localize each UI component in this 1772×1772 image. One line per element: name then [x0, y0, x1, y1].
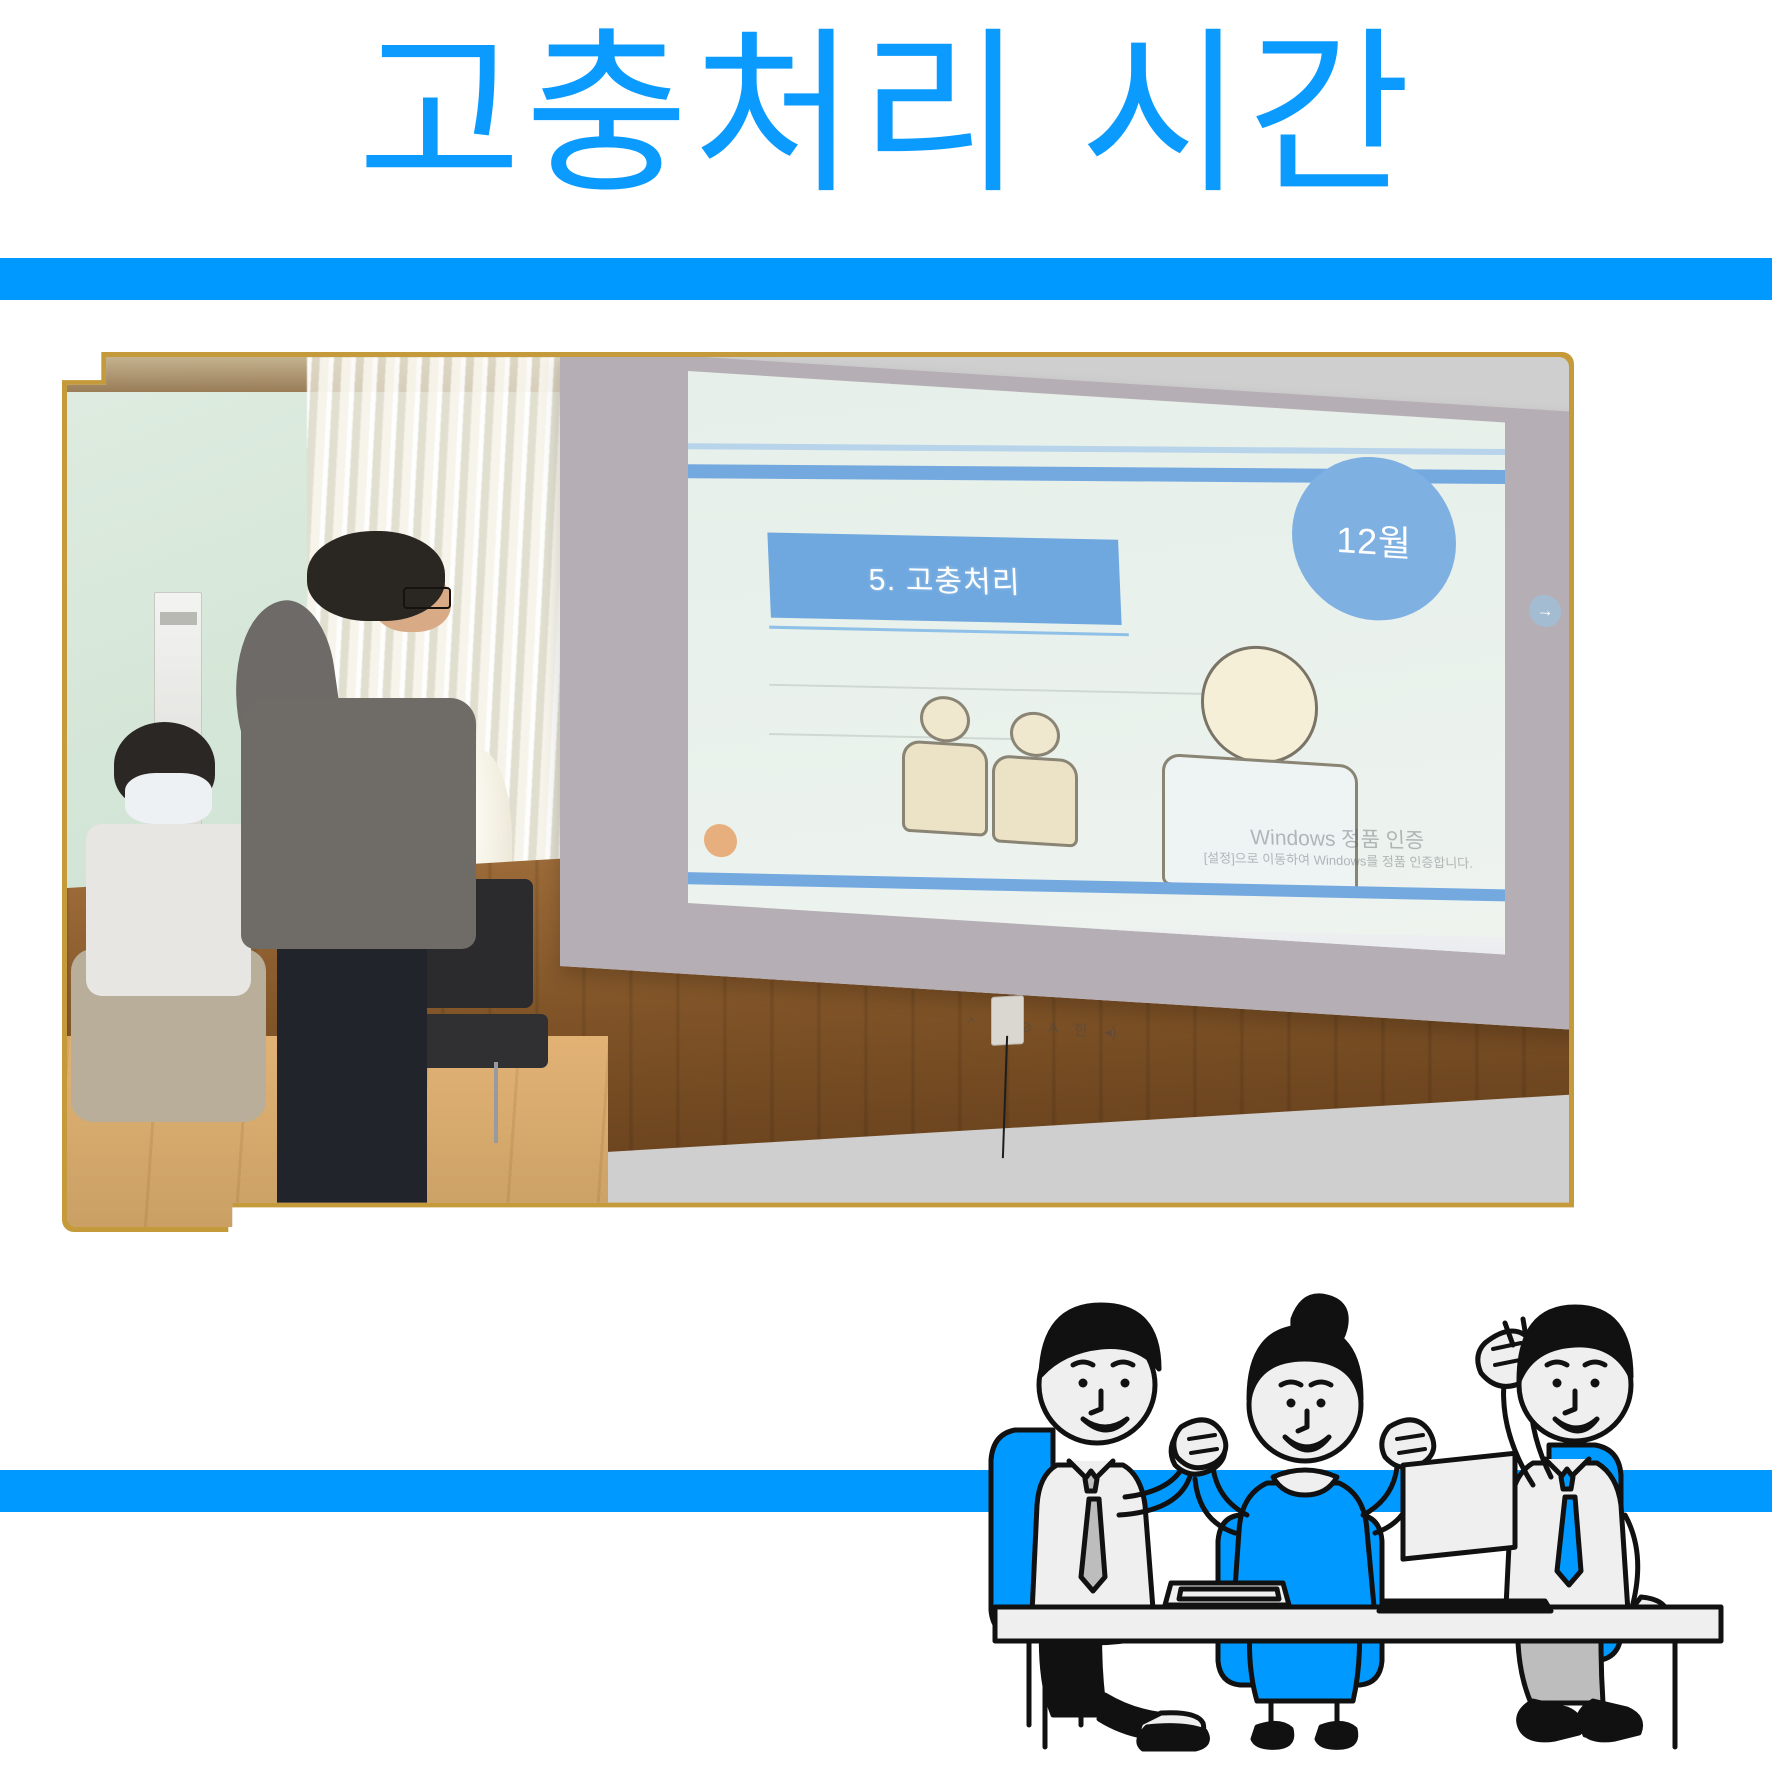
slide-corner-logo	[704, 824, 737, 859]
slide-title-underline	[769, 626, 1128, 637]
standing-presenter	[217, 531, 517, 1227]
illustration-svg	[985, 1215, 1745, 1755]
cheering-office-team-illustration	[985, 1215, 1745, 1755]
projection-screen: 5. 고충처리 12월	[560, 357, 1569, 1030]
slide-figure-head	[1200, 643, 1318, 768]
photo-image: 5. 고충처리 12월	[67, 357, 1569, 1227]
tray-ime-latin-icon[interactable]: A	[1048, 1019, 1058, 1037]
glasses	[403, 587, 451, 609]
torso	[241, 698, 475, 949]
legs	[277, 928, 427, 1227]
next-slide-button[interactable]: →	[1529, 595, 1561, 629]
page-title: 고충처리 시간	[0, 22, 1772, 209]
slide-figure-head	[1009, 711, 1059, 759]
poster-root: 고충처리 시간	[0, 0, 1772, 1772]
tray-ime-hangul-icon[interactable]: 한	[1074, 1019, 1088, 1041]
tray-wifi-icon[interactable]: ◂)	[1104, 1022, 1117, 1041]
slide-title-text: 5. 고충처리	[868, 556, 1022, 603]
meeting-room-scene: 5. 고충처리 12월	[67, 357, 1569, 1227]
slide-figure-head	[920, 694, 970, 744]
arrow-right-icon: →	[1529, 595, 1561, 629]
slide-stripe-secondary	[687, 444, 1504, 456]
keyboard	[1165, 1583, 1289, 1605]
face-mask	[125, 773, 212, 824]
windows-activation-watermark: Windows 정품 인증 [설정]으로 이동하여 Windows를 정품 인증…	[1202, 824, 1473, 872]
photo-card: 5. 고충처리 12월	[62, 352, 1574, 1232]
slide-figure-middle	[990, 710, 1080, 848]
slide-title-chip: 5. 고충처리	[767, 533, 1122, 626]
slide-figure-body	[902, 740, 988, 837]
slide-figure-body	[991, 755, 1077, 848]
person-woman-center	[1174, 1296, 1434, 1747]
tray-chevron-icon[interactable]: ^	[968, 1015, 975, 1032]
month-badge: 12월	[1292, 452, 1455, 626]
projected-slide: 5. 고충처리 12월	[687, 372, 1504, 955]
month-badge-text: 12월	[1292, 452, 1455, 626]
slide-figure-left	[900, 693, 990, 837]
person-man-left	[1031, 1305, 1225, 1749]
top-divider-bar	[0, 258, 1772, 300]
slide-content-rule-1	[769, 684, 1226, 696]
slide-bottom-stripe	[687, 872, 1504, 903]
